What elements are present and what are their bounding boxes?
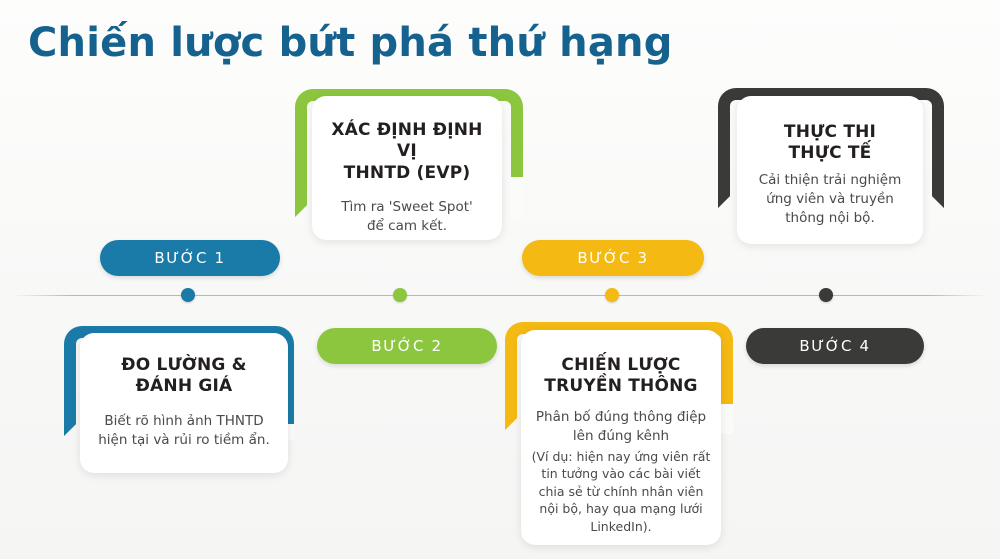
- step-pill-4[interactable]: BƯỚC 4: [746, 328, 924, 364]
- card-body-line-2: hiện tại và rủi ro tiềm ẩn.: [98, 431, 270, 450]
- card-body-step-4: Cải thiện trải nghiệm ứng viên và truyền…: [759, 171, 902, 228]
- bracket-leg-trim: [511, 177, 523, 221]
- card-body-step-2: Tìm ra 'Sweet Spot' để cam kết.: [341, 198, 472, 236]
- card-title-line-2: TRUYỀN THÔNG: [544, 376, 697, 397]
- slide-canvas: Chiến lược bứt phá thứ hạng XÁC ĐỊNH ĐỊN…: [0, 0, 1000, 559]
- card-title-line-2: THỰC TẾ: [784, 143, 876, 164]
- card-body-step-3: Phân bố đúng thông điệp lên đúng kênh: [536, 408, 706, 446]
- card-body-line-1: Tìm ra 'Sweet Spot': [341, 198, 472, 217]
- step-pill-1[interactable]: BƯỚC 1: [100, 240, 280, 276]
- card-body-line-1: Biết rõ hình ảnh THNTD: [98, 412, 270, 431]
- node-step-4: [819, 288, 833, 302]
- card-title-step-4: THỰC THI THỰC TẾ: [784, 122, 876, 165]
- step-pill-3[interactable]: BƯỚC 3: [522, 240, 704, 276]
- card-title-step-3: CHIẾN LƯỢC TRUYỀN THÔNG: [544, 355, 697, 398]
- card-title-line-1: XÁC ĐỊNH ĐỊNH VỊ: [322, 120, 492, 163]
- card-step-4[interactable]: THỰC THI THỰC TẾ Cải thiện trải nghiệm ứ…: [737, 96, 923, 244]
- card-body-step-1: Biết rõ hình ảnh THNTD hiện tại và rủi r…: [98, 412, 270, 450]
- card-title-step-2: XÁC ĐỊNH ĐỊNH VỊ THNTD (EVP): [322, 120, 492, 184]
- card-title-line-1: THỰC THI: [784, 122, 876, 143]
- card-body-line-2: để cam kết.: [341, 217, 472, 236]
- card-step-2[interactable]: XÁC ĐỊNH ĐỊNH VỊ THNTD (EVP) Tìm ra 'Swe…: [312, 96, 502, 240]
- timeline-axis: [12, 295, 988, 296]
- node-step-3: [605, 288, 619, 302]
- card-title-line-2: THNTD (EVP): [322, 163, 492, 184]
- card-body-line-1: Phân bố đúng thông điệp: [536, 408, 706, 427]
- node-step-2: [393, 288, 407, 302]
- card-step-1[interactable]: ĐO LƯỜNG & ĐÁNH GIÁ Biết rõ hình ảnh THN…: [80, 333, 288, 473]
- card-title-line-1: CHIẾN LƯỢC: [544, 355, 697, 376]
- card-body-line-2: ứng viên và truyền: [759, 190, 902, 209]
- bracket-leg-trim: [721, 404, 733, 434]
- node-step-1: [181, 288, 195, 302]
- card-note-step-3: (Ví dụ: hiện nay ứng viên rất tin tưởng …: [531, 448, 711, 536]
- card-title-line-1: ĐO LƯỜNG &: [121, 355, 246, 376]
- step-pill-2[interactable]: BƯỚC 2: [317, 328, 497, 364]
- card-body-line-2: lên đúng kênh: [536, 427, 706, 446]
- card-title-line-2: ĐÁNH GIÁ: [121, 376, 246, 397]
- page-title: Chiến lược bứt phá thứ hạng: [28, 20, 673, 66]
- card-step-3[interactable]: CHIẾN LƯỢC TRUYỀN THÔNG Phân bố đúng thô…: [521, 330, 721, 545]
- card-title-step-1: ĐO LƯỜNG & ĐÁNH GIÁ: [121, 355, 246, 398]
- card-body-line-1: Cải thiện trải nghiệm: [759, 171, 902, 190]
- card-body-line-3: thông nội bộ.: [759, 209, 902, 228]
